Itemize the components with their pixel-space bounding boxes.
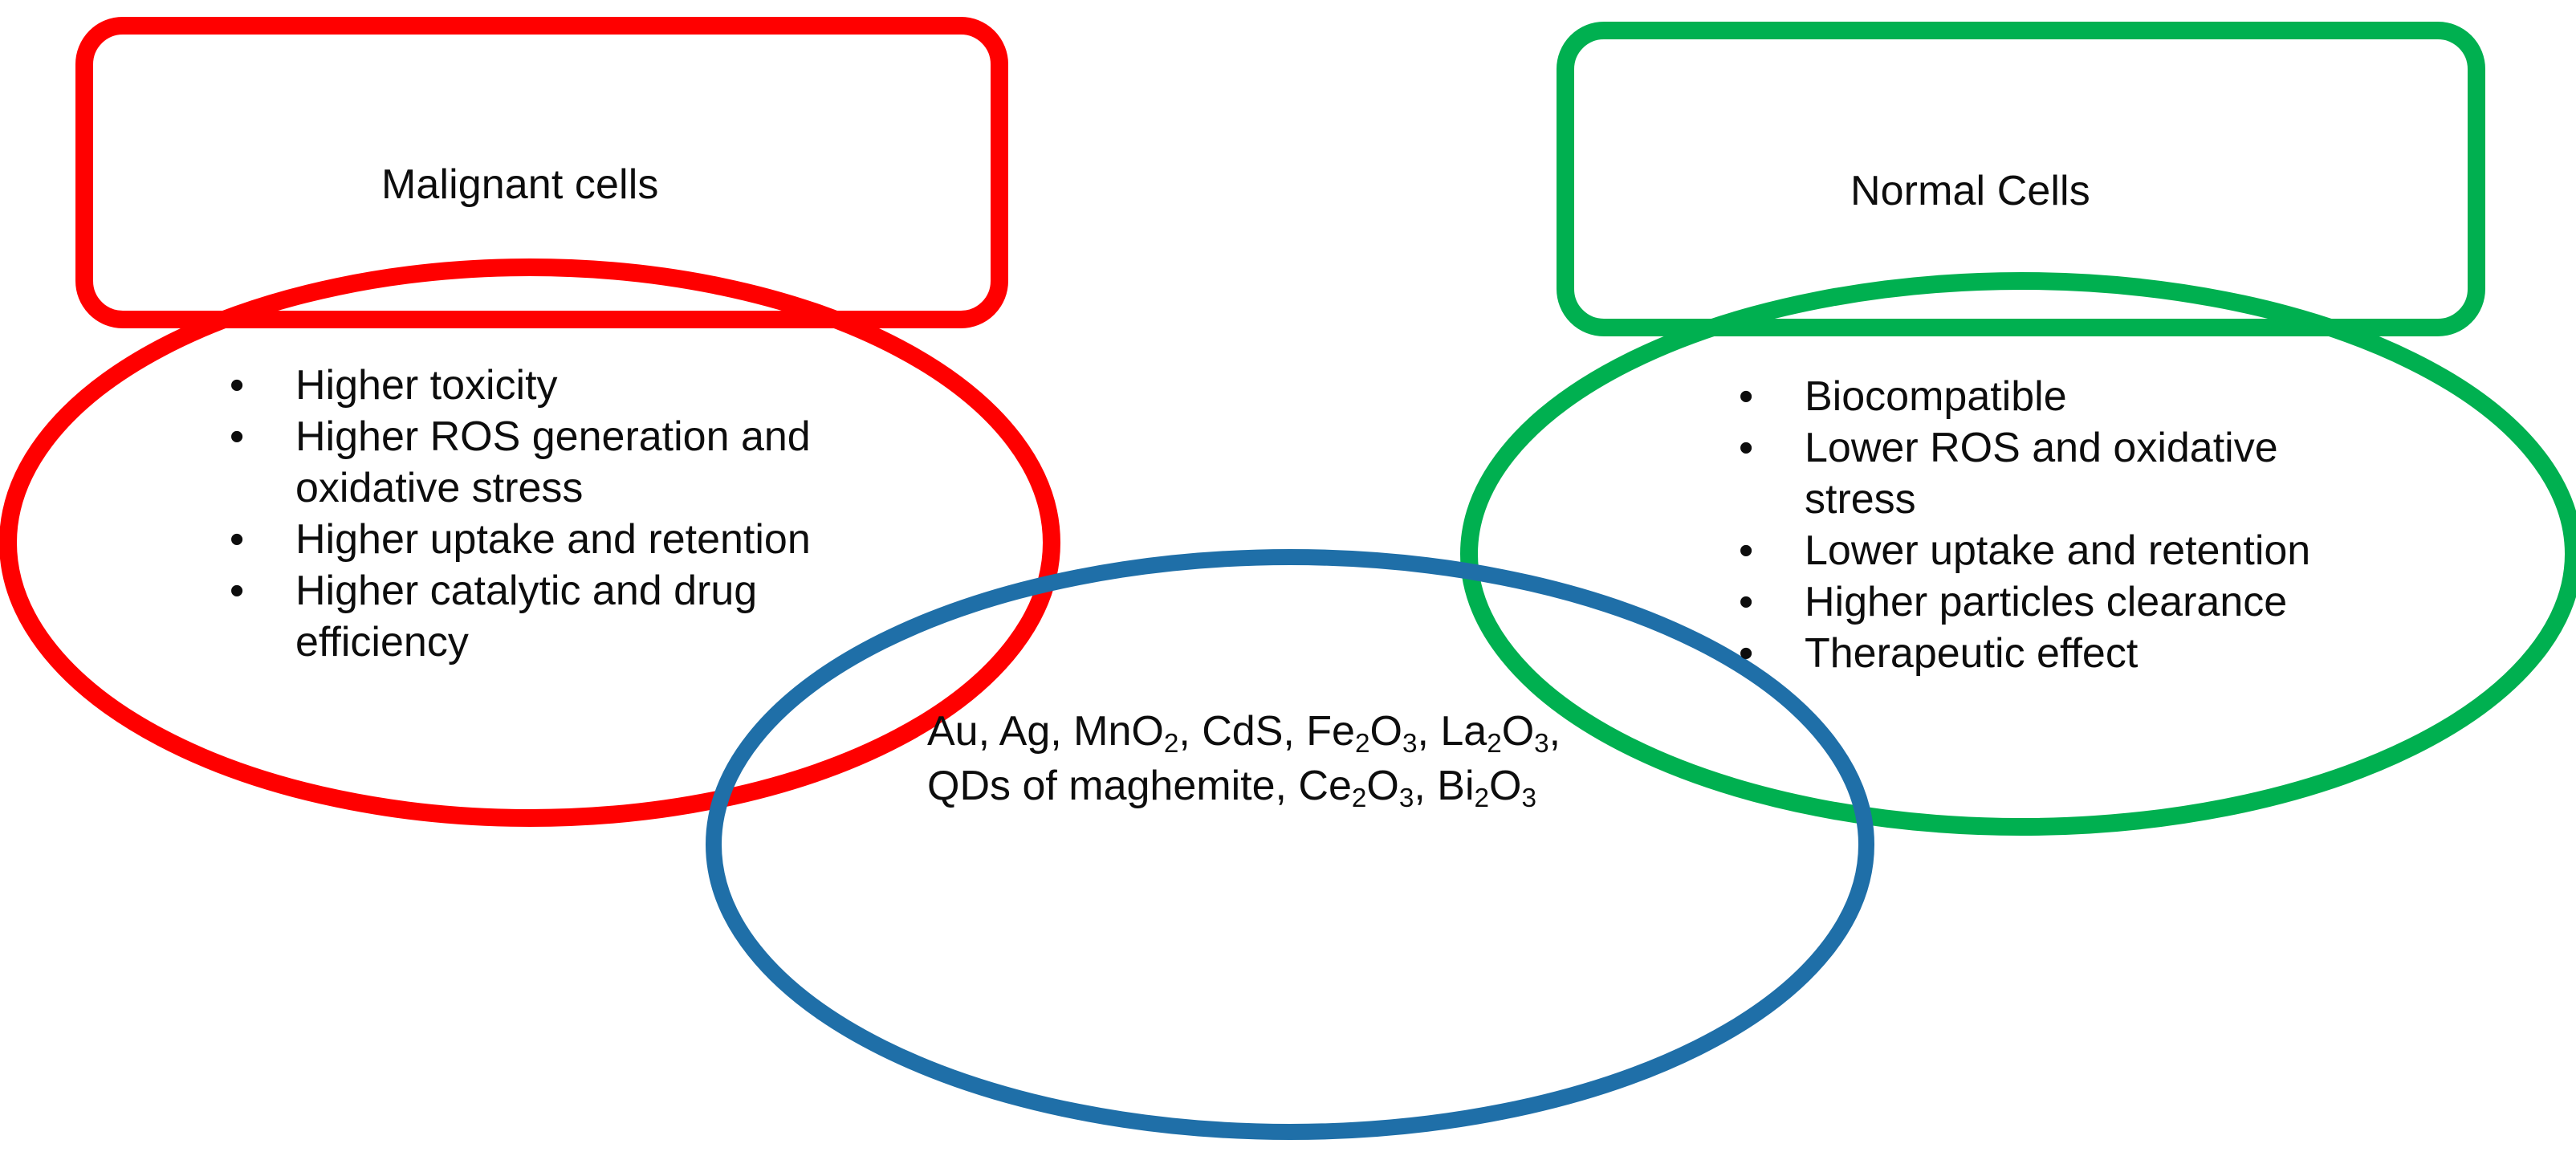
list-item-continuation: oxidative stress [223, 462, 865, 514]
list-item-label: Higher catalytic and drug [295, 568, 757, 614]
bullet-dot: • [1739, 371, 1753, 422]
list-item: • Higher ROS generation and [223, 411, 865, 462]
list-item-label: Higher ROS generation and [295, 413, 811, 460]
list-item-label: oxidative stress [295, 465, 583, 511]
list-item-label: stress [1805, 476, 1916, 523]
list-item: • Higher uptake and retention [223, 514, 865, 565]
list-item-continuation: stress [1732, 474, 2439, 525]
bullet-dot: • [230, 514, 244, 565]
list-item-label: Lower ROS and oxidative [1805, 425, 2278, 471]
list-item-label: Biocompatible [1805, 373, 2067, 420]
list-item: • Biocompatible [1732, 371, 2439, 422]
diagram-canvas: Malignant cells Normal Cells • Higher to… [0, 0, 2576, 1160]
list-item-label: Higher particles clearance [1805, 579, 2287, 625]
malignant-bullet-list: • Higher toxicity • Higher ROS generatio… [223, 360, 865, 668]
list-item-continuation: efficiency [223, 617, 865, 668]
list-item: • Lower ROS and oxidative [1732, 422, 2439, 474]
list-item: • Therapeutic effect [1732, 628, 2439, 679]
bullet-dot: • [1739, 525, 1753, 576]
bullet-dot: • [1739, 628, 1753, 679]
list-item-label: Higher uptake and retention [295, 516, 811, 563]
bullet-dot: • [1739, 422, 1753, 474]
normal-title: Normal Cells [1850, 167, 2090, 215]
shared-materials-line-1: Au, Ag, MnO2, CdS, Fe2O3, La2O3, [927, 706, 1561, 762]
list-item-label: Therapeutic effect [1805, 630, 2138, 677]
shared-materials-line-2: QDs of maghemite, Ce2O3, Bi2O3 [927, 761, 1536, 816]
normal-bullet-list: • Biocompatible • Lower ROS and oxidativ… [1732, 371, 2439, 679]
list-item: • Higher toxicity [223, 360, 865, 411]
list-item: • Higher particles clearance [1732, 576, 2439, 628]
list-item-label: Higher toxicity [295, 362, 558, 409]
malignant-title: Malignant cells [381, 161, 658, 209]
bullet-dot: • [230, 360, 244, 411]
diagram-text-layer: Malignant cells Normal Cells • Higher to… [0, 0, 2576, 1160]
bullet-dot: • [230, 565, 244, 617]
list-item-label: Lower uptake and retention [1805, 527, 2310, 574]
list-item: • Higher catalytic and drug [223, 565, 865, 617]
list-item: • Lower uptake and retention [1732, 525, 2439, 576]
list-item-label: efficiency [295, 619, 469, 665]
bullet-dot: • [1739, 576, 1753, 628]
bullet-dot: • [230, 411, 244, 462]
